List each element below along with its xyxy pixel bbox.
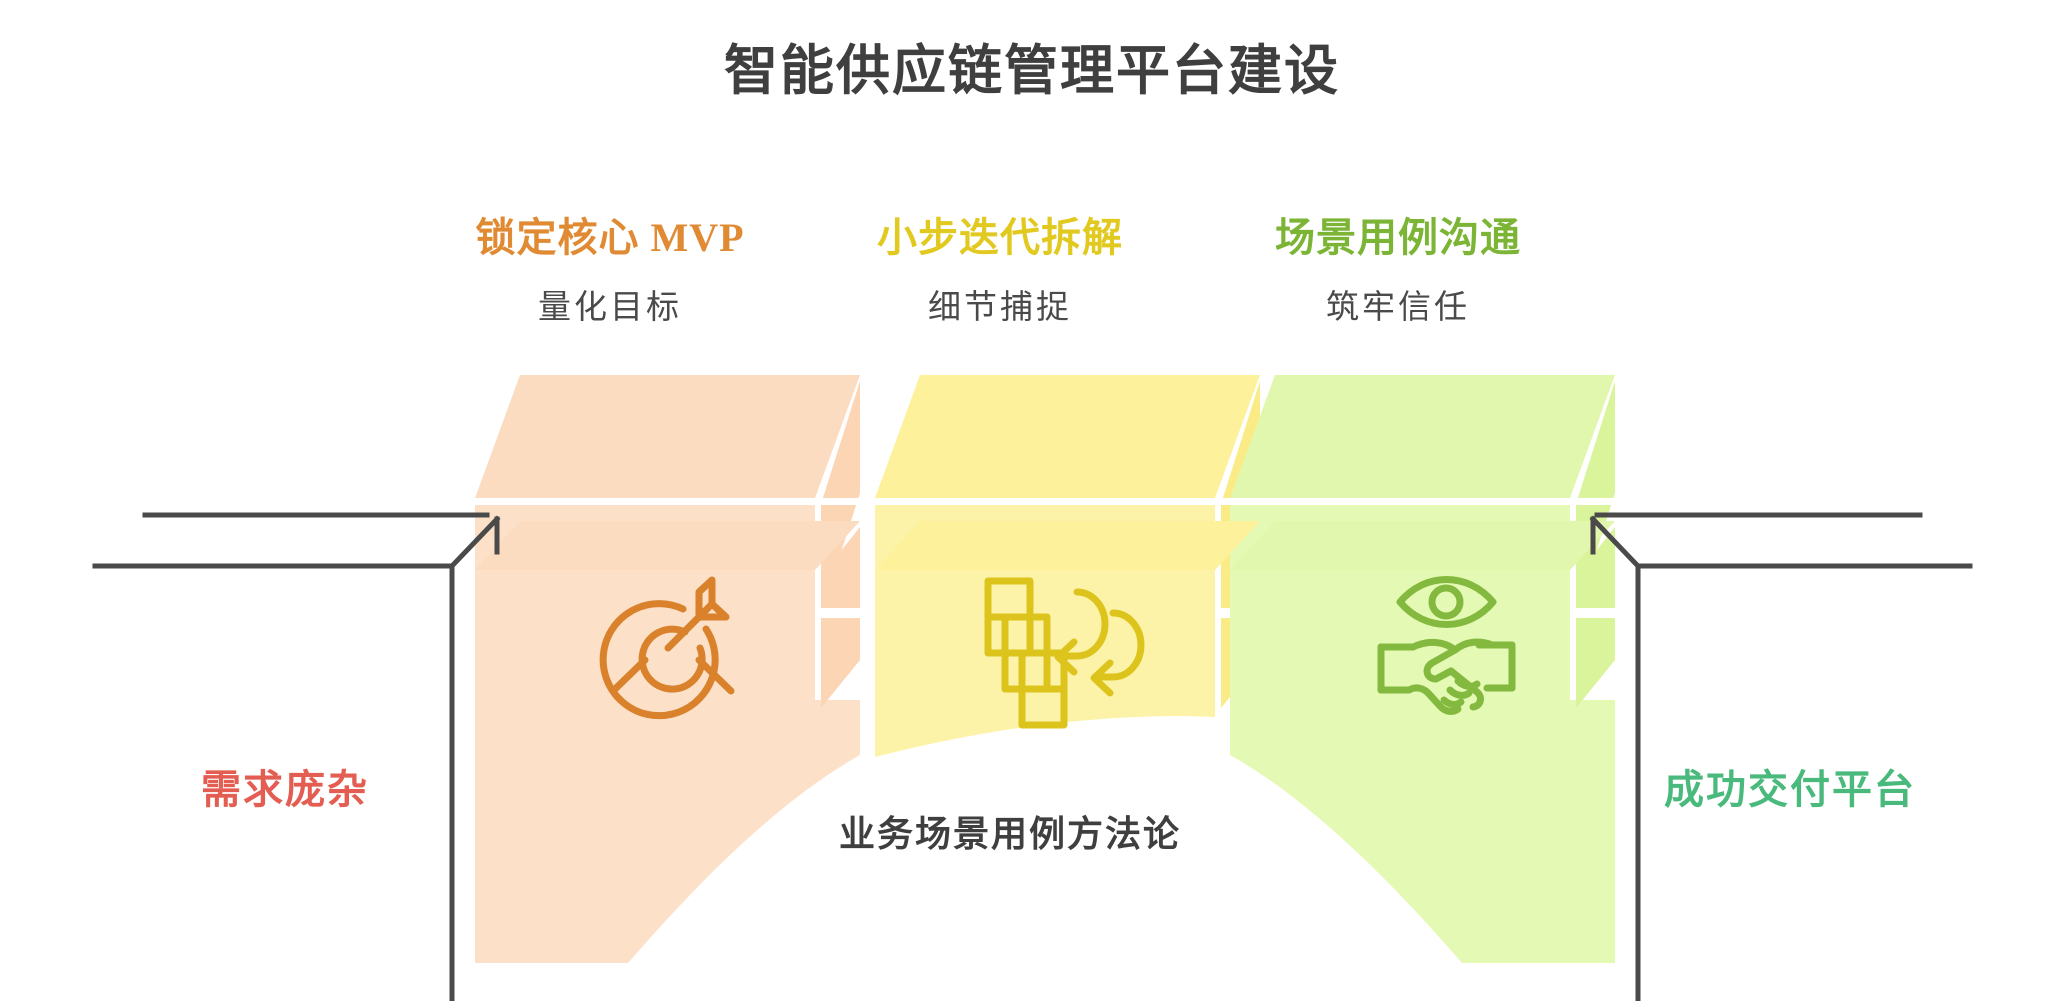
block-green-upper-top bbox=[1230, 375, 1615, 498]
column-subtitle-iterate: 细节捕捉 bbox=[790, 280, 1210, 328]
page-title: 智能供应链管理平台建设 bbox=[0, 26, 2064, 105]
column-title-mvp: 锁定核心 MVP bbox=[400, 205, 820, 263]
column-title-iterate: 小步迭代拆解 bbox=[790, 205, 1210, 263]
block-orange-lower-top-2 bbox=[475, 521, 860, 570]
block-orange-upper-top bbox=[475, 375, 860, 498]
center-caption: 业务场景用例方法论 bbox=[760, 805, 1260, 857]
left-endpoint-label: 需求庞杂 bbox=[130, 757, 440, 815]
column-subtitle-mvp: 量化目标 bbox=[400, 280, 820, 328]
block-green-lower-top-2 bbox=[1230, 521, 1615, 570]
column-subtitle-scenario: 筑牢信任 bbox=[1188, 280, 1608, 328]
block-yellow-upper-top bbox=[875, 375, 1260, 498]
arch-leg-green bbox=[1230, 700, 1615, 963]
column-title-scenario: 场景用例沟通 bbox=[1188, 205, 1608, 263]
right-endpoint-label: 成功交付平台 bbox=[1625, 757, 1955, 815]
block-yellow-lower-top-2 bbox=[875, 521, 1260, 570]
infographic-canvas: 智能供应链管理平台建设 锁定核心 MVP 量化目标 小步迭代拆解 细节捕捉 场景… bbox=[0, 0, 2064, 1001]
